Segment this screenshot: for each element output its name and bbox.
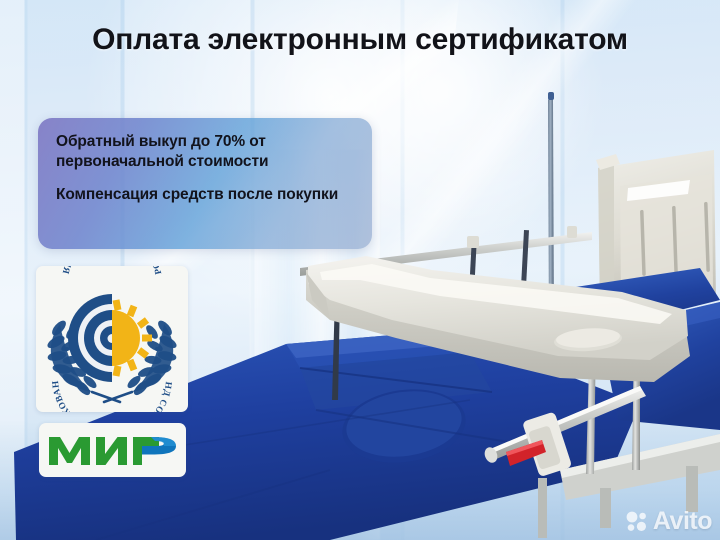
emblem-right-sun: [112, 300, 152, 376]
fss-logo: ФОНД СОЦИАЛЬНОГО СТРАХОВАНИЯ РОССИЙСКАЯ …: [36, 266, 188, 412]
banner-title: Оплата электронным сертификатом: [0, 22, 720, 59]
fss-ring-text-bottom: РОССИЙСКАЯ ФЕДЕРАЦИЯ: [61, 266, 164, 275]
avito-watermark: Avito: [626, 509, 712, 534]
avito-wordmark: Avito: [653, 509, 712, 534]
fss-logo-card: ФОНД СОЦИАЛЬНОГО СТРАХОВАНИЯ РОССИЙСКАЯ …: [36, 266, 188, 412]
benefit-item: Компенсация средств после покупки: [56, 185, 354, 205]
benefits-panel: Обратный выкуп до 70% от первоначальной …: [38, 118, 372, 249]
benefit-item: Обратный выкуп до 70% от первоначальной …: [56, 132, 354, 172]
banner-image: Оплата электронным сертификатом Обратный…: [0, 0, 720, 540]
mir-logo-card: [39, 423, 186, 477]
avito-dots-icon: [626, 511, 648, 533]
mir-logo: [39, 423, 186, 477]
